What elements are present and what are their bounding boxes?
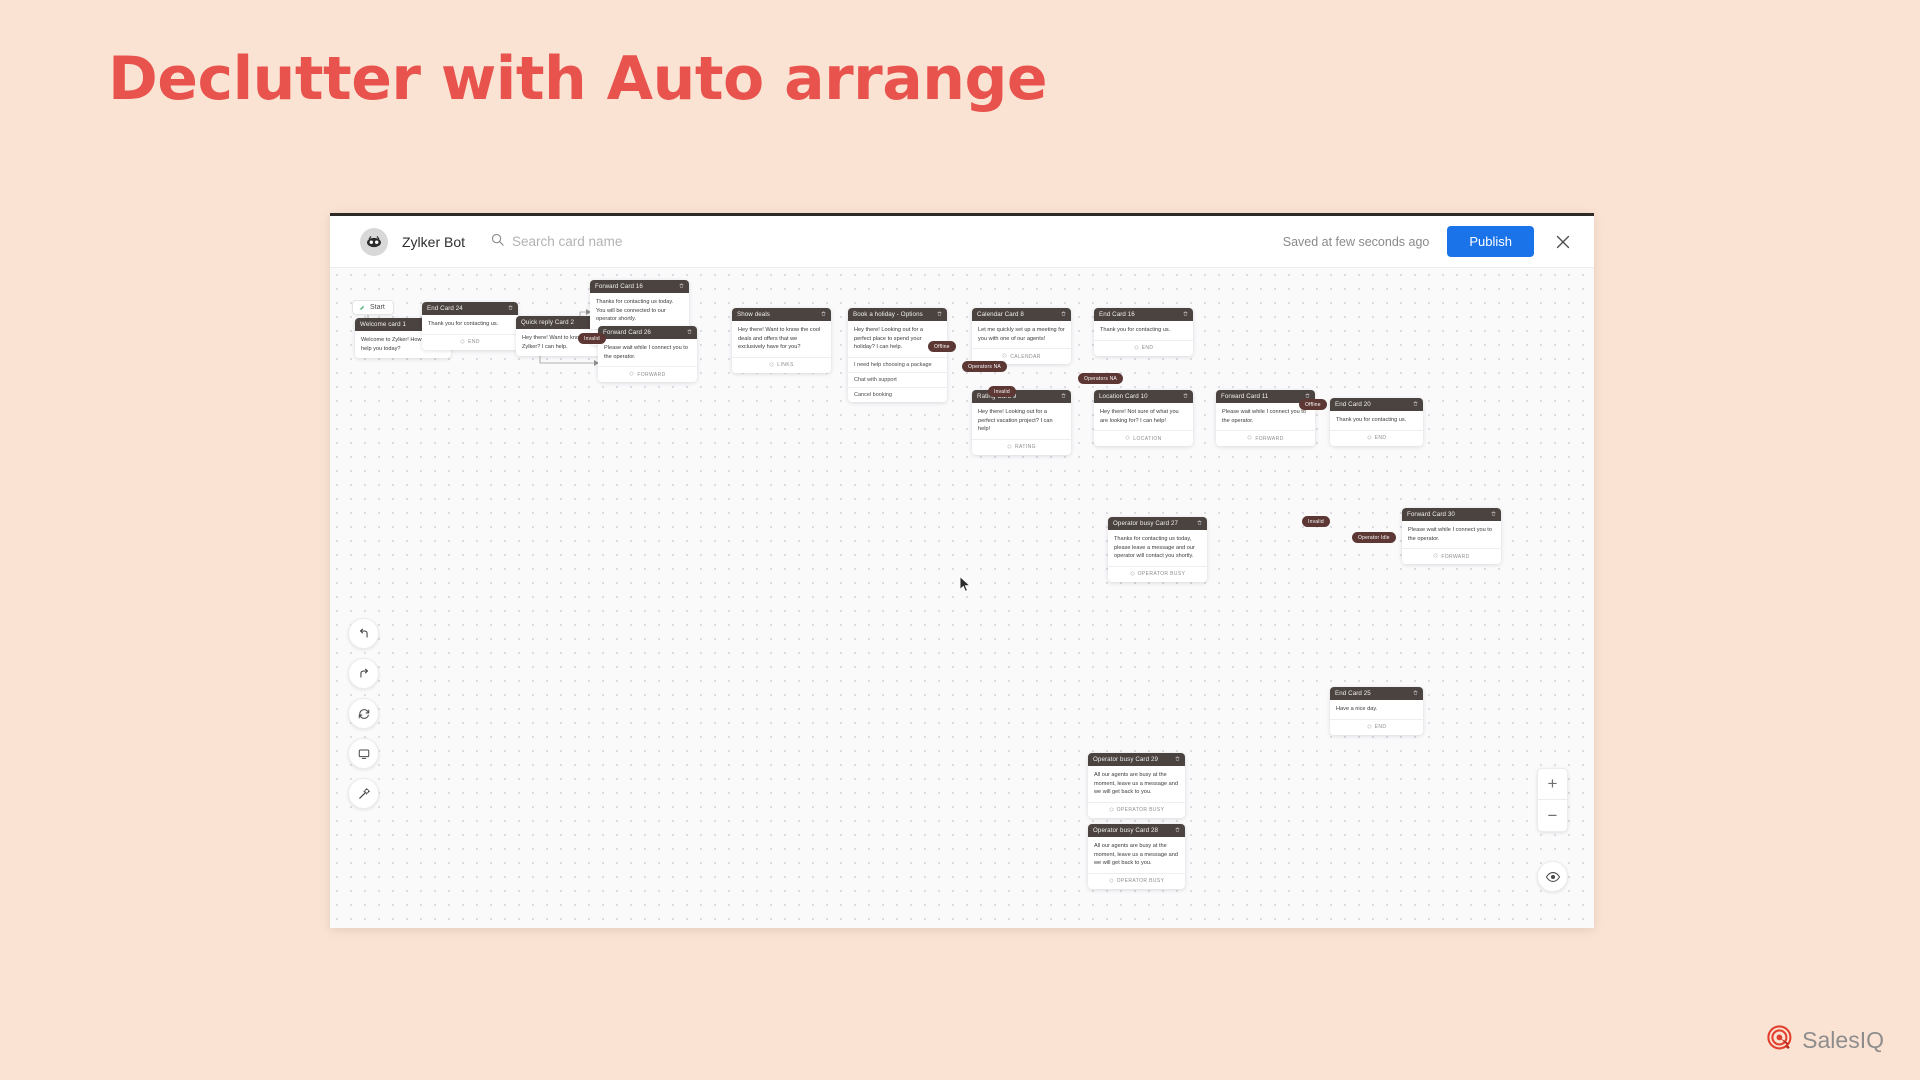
undo-button[interactable] <box>348 618 379 649</box>
delete-card-icon[interactable] <box>1413 690 1418 697</box>
card-action-icon <box>769 362 774 369</box>
flow-card[interactable]: Calendar Card 8Let me quickly set up a m… <box>972 308 1071 364</box>
card-body: Thank you for contacting us. <box>1094 321 1193 340</box>
card-action[interactable]: FORWARD <box>1216 430 1315 446</box>
app-header: Zylker Bot Saved at few seconds ago Publ… <box>330 216 1594 268</box>
card-body: Thank you for contacting us. <box>1330 411 1423 430</box>
card-action-icon <box>1367 724 1372 731</box>
flow-badge[interactable]: Operators NA <box>962 361 1007 372</box>
redo-button[interactable] <box>348 658 379 689</box>
card-action-icon <box>629 371 634 378</box>
search-input[interactable] <box>512 234 742 249</box>
card-action-icon <box>1007 444 1012 451</box>
card-header: Show deals <box>732 308 831 321</box>
target-bullseye-icon <box>1767 1025 1793 1056</box>
card-title: Forward Card 26 <box>603 329 651 336</box>
start-node[interactable]: Start <box>352 300 394 315</box>
zoom-out-button[interactable]: − <box>1538 800 1567 831</box>
bot-avatar-icon <box>360 228 388 256</box>
flow-canvas[interactable]: Start Welcome card 1Welcome to Zylker! H… <box>330 268 1594 928</box>
card-body: Hey there! Want to know the cool deals a… <box>732 321 831 357</box>
tool-rail <box>348 618 379 809</box>
card-title: Welcome card 1 <box>360 321 406 328</box>
card-option[interactable]: Cancel booking <box>848 387 947 402</box>
flow-badge[interactable]: Invalid <box>578 333 606 344</box>
card-action[interactable]: OPERATOR BUSY <box>1088 873 1185 889</box>
card-action[interactable]: LINKS <box>732 357 831 373</box>
redo-arrow-icon <box>357 667 371 681</box>
fit-to-screen-button[interactable] <box>348 738 379 769</box>
card-action-icon <box>1002 353 1007 360</box>
card-action[interactable]: FORWARD <box>1402 548 1501 564</box>
card-action[interactable]: RATING <box>972 439 1071 455</box>
flow-card[interactable]: End Card 25Have a nice day.END <box>1330 687 1423 735</box>
card-title: Forward Card 11 <box>1221 393 1268 400</box>
card-action-icon <box>1109 878 1114 885</box>
page-title: Declutter with Auto arrange <box>108 44 1047 114</box>
delete-card-icon[interactable] <box>1413 401 1418 408</box>
flow-card[interactable]: Operator busy Card 29All our agents are … <box>1088 753 1185 818</box>
card-action-label: OPERATOR BUSY <box>1117 878 1165 884</box>
close-icon[interactable] <box>1552 231 1574 253</box>
card-title: End Card 16 <box>1099 311 1135 318</box>
saved-status-label: Saved at few seconds ago <box>1283 235 1430 249</box>
flow-badge[interactable]: Operators NA <box>1078 373 1123 384</box>
card-title: Operator busy Card 28 <box>1093 827 1158 834</box>
card-action-icon <box>1109 807 1114 814</box>
card-header: End Card 24 <box>422 302 518 315</box>
card-body: Let me quickly set up a meeting for you … <box>972 321 1071 348</box>
flow-card[interactable]: Forward Card 26Please wait while I conne… <box>598 326 697 382</box>
card-header: Forward Card 16 <box>590 280 689 293</box>
search-box[interactable] <box>491 233 742 251</box>
card-title: Book a holiday - Options <box>853 311 923 318</box>
header-actions: Saved at few seconds ago Publish <box>1283 226 1578 257</box>
start-node-label: Start <box>370 304 385 311</box>
delete-card-icon[interactable] <box>1061 393 1066 400</box>
card-action-label: END <box>1375 724 1387 730</box>
card-action[interactable]: END <box>1330 719 1423 735</box>
card-body: Have a nice day. <box>1330 700 1423 719</box>
flow-card[interactable]: End Card 20Thank you for contacting us.E… <box>1330 398 1423 446</box>
card-action-label: RATING <box>1015 444 1036 450</box>
card-action[interactable]: OPERATOR BUSY <box>1108 566 1207 582</box>
delete-card-icon[interactable] <box>1197 520 1202 527</box>
card-action-label: FORWARD <box>1441 554 1469 560</box>
delete-card-icon[interactable] <box>821 311 826 318</box>
mouse-pointer-icon <box>959 576 972 598</box>
card-action[interactable]: END <box>1094 340 1193 356</box>
flow-card[interactable]: End Card 16Thank you for contacting us.E… <box>1094 308 1193 356</box>
card-title: End Card 24 <box>427 305 463 312</box>
card-action-label: LOCATION <box>1133 436 1161 442</box>
card-title: Show deals <box>737 311 770 318</box>
auto-arrange-button[interactable] <box>348 698 379 729</box>
card-header: Forward Card 30 <box>1402 508 1501 521</box>
card-header: End Card 20 <box>1330 398 1423 411</box>
card-title: Operator busy Card 29 <box>1093 756 1158 763</box>
monitor-screen-icon <box>357 747 371 761</box>
card-body: Please wait while I connect you to the o… <box>1402 521 1501 548</box>
card-action[interactable]: FORWARD <box>598 366 697 382</box>
card-title: End Card 20 <box>1335 401 1371 408</box>
card-header: Location Card 10 <box>1094 390 1193 403</box>
brand-name-label: SalesIQ <box>1802 1027 1884 1054</box>
card-action[interactable]: END <box>1330 430 1423 446</box>
card-header: Operator busy Card 29 <box>1088 753 1185 766</box>
card-title: Operator busy Card 27 <box>1113 520 1178 527</box>
card-header: Rating Card 9 <box>972 390 1071 403</box>
card-title: Calendar Card 8 <box>977 311 1024 318</box>
card-body: Please wait while I connect you to the o… <box>598 339 697 366</box>
magic-wand-button[interactable] <box>348 778 379 809</box>
card-action[interactable]: END <box>422 334 518 350</box>
delete-card-icon[interactable] <box>687 329 692 336</box>
delete-card-icon[interactable] <box>1175 827 1180 834</box>
bot-name-label: Zylker Bot <box>402 234 465 250</box>
card-title: Location Card 10 <box>1099 393 1148 400</box>
delete-card-icon[interactable] <box>679 283 684 290</box>
card-header: End Card 25 <box>1330 687 1423 700</box>
undo-arrow-icon <box>357 627 371 641</box>
card-title: Forward Card 30 <box>1407 511 1455 518</box>
card-header: End Card 16 <box>1094 308 1193 321</box>
delete-card-icon[interactable] <box>1183 311 1188 318</box>
zoom-in-button[interactable]: + <box>1538 769 1567 800</box>
card-header: Book a holiday - Options <box>848 308 947 321</box>
preview-button[interactable] <box>1537 861 1568 892</box>
delete-card-icon[interactable] <box>1183 393 1188 400</box>
flow-card[interactable]: Operator busy Card 28All our agents are … <box>1088 824 1185 889</box>
flow-badge[interactable]: Invalid <box>1302 516 1330 527</box>
flow-card[interactable]: Book a holiday - OptionsHey there! Looki… <box>848 308 947 402</box>
card-action-label: LINKS <box>777 362 793 368</box>
app-window: Zylker Bot Saved at few seconds ago Publ… <box>330 213 1594 928</box>
card-action-label: END <box>1142 345 1154 351</box>
card-action-icon <box>1433 553 1438 560</box>
card-action-label: END <box>1375 435 1387 441</box>
card-action-label: OPERATOR BUSY <box>1117 807 1165 813</box>
card-header: Calendar Card 8 <box>972 308 1071 321</box>
card-action-label: FORWARD <box>637 372 665 378</box>
delete-card-icon[interactable] <box>937 311 942 318</box>
refresh-circular-icon <box>357 707 371 721</box>
card-header: Operator busy Card 27 <box>1108 517 1207 530</box>
card-header: Operator busy Card 28 <box>1088 824 1185 837</box>
card-action-label: END <box>468 339 480 345</box>
card-title: Forward Card 16 <box>595 283 643 290</box>
delete-card-icon[interactable] <box>1061 311 1066 318</box>
card-body: Thanks for contacting us today, please l… <box>1108 530 1207 566</box>
card-action-label: FORWARD <box>1255 436 1283 442</box>
card-action-icon <box>1247 435 1252 442</box>
flow-badge[interactable]: Operator Idle <box>1352 532 1396 543</box>
card-title: End Card 25 <box>1335 690 1371 697</box>
search-icon <box>491 233 504 251</box>
card-title: Quick reply Card 2 <box>521 319 574 326</box>
card-action-icon <box>1130 571 1135 578</box>
card-action-icon <box>1134 345 1139 352</box>
eye-preview-icon <box>1545 869 1561 885</box>
card-action-icon <box>1125 435 1130 442</box>
flow-card[interactable]: Location Card 10Hey there! Not sure of w… <box>1094 390 1193 446</box>
card-option[interactable]: Chat with support <box>848 372 947 387</box>
flow-badge[interactable]: Offline <box>928 341 956 352</box>
card-body: All our agents are busy at the moment, l… <box>1088 837 1185 873</box>
card-option[interactable]: I need help choosing a package <box>848 357 947 372</box>
card-body: Hey there! Looking out for a perfect vac… <box>972 403 1071 439</box>
delete-card-icon[interactable] <box>508 305 513 312</box>
brand-logo: SalesIQ <box>1767 1025 1884 1056</box>
flow-card[interactable]: Rating Card 9Hey there! Looking out for … <box>972 390 1071 455</box>
flow-card[interactable]: Forward Card 30Please wait while I conne… <box>1402 508 1501 564</box>
flow-card[interactable]: End Card 24Thank you for contacting us.E… <box>422 302 518 350</box>
card-action-icon <box>460 339 465 346</box>
flow-card[interactable]: Operator busy Card 27Thanks for contacti… <box>1108 517 1207 582</box>
card-body: Thanks for contacting us today. You will… <box>590 293 689 329</box>
flow-card[interactable]: Show dealsHey there! Want to know the co… <box>732 308 831 373</box>
delete-card-icon[interactable] <box>1491 511 1496 518</box>
card-action-label: CALENDAR <box>1010 354 1040 360</box>
magic-wand-icon <box>357 787 371 801</box>
card-body: Thank you for contacting us. <box>422 315 518 334</box>
card-action[interactable]: OPERATOR BUSY <box>1088 802 1185 818</box>
card-action-icon <box>1367 435 1372 442</box>
flow-badge[interactable]: Invalid <box>988 386 1016 397</box>
flow-badge[interactable]: Offline <box>1299 399 1327 410</box>
card-action[interactable]: LOCATION <box>1094 430 1193 446</box>
flow-card[interactable]: Forward Card 11Please wait while I conne… <box>1216 390 1315 446</box>
card-header: Forward Card 26 <box>598 326 697 339</box>
card-action-label: OPERATOR BUSY <box>1138 571 1186 577</box>
card-body: Hey there! Not sure of what you are look… <box>1094 403 1193 430</box>
card-body: All our agents are busy at the moment, l… <box>1088 766 1185 802</box>
publish-button[interactable]: Publish <box>1447 226 1534 257</box>
zoom-controls: + − <box>1537 768 1568 832</box>
rocket-start-icon <box>358 304 365 311</box>
delete-card-icon[interactable] <box>1175 756 1180 763</box>
